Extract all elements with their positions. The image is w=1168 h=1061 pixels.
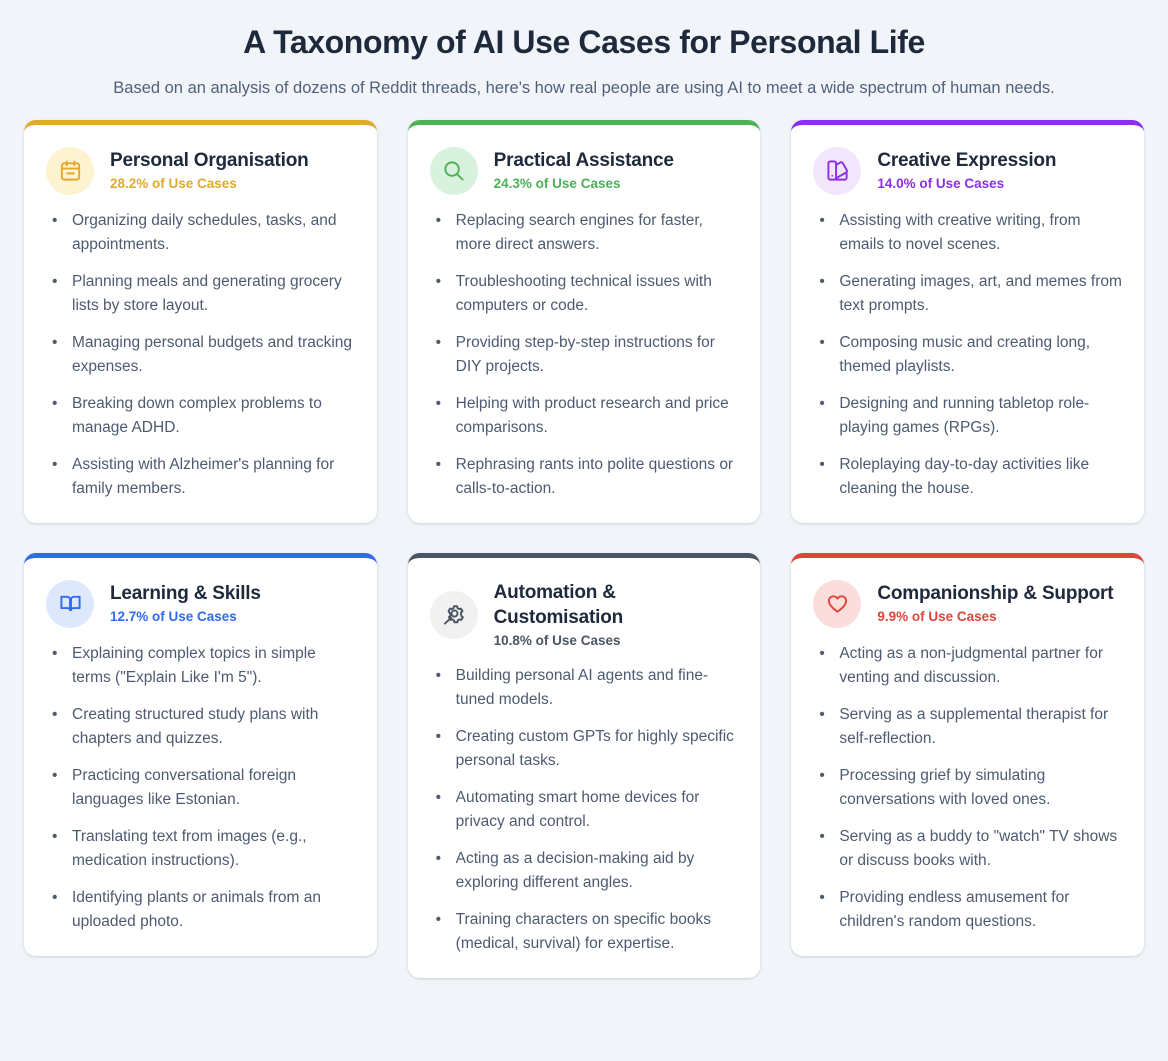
card-percentage: 12.7% of Use Cases: [110, 609, 261, 626]
card-title: Automation & Customisation: [494, 580, 739, 630]
bullet-dot: •: [52, 703, 57, 727]
page-title: A Taxonomy of AI Use Cases for Personal …: [24, 22, 1144, 62]
list-item-label: Acting as a decision-making aid by explo…: [456, 850, 695, 891]
list-item: •Breaking down complex problems to manag…: [46, 392, 355, 440]
card-header-text: Creative Expression14.0% of Use Cases: [877, 148, 1056, 193]
card-header: Creative Expression14.0% of Use Cases: [813, 147, 1122, 195]
category-card: Practical Assistance24.3% of Use Cases•R…: [408, 120, 761, 523]
list-item-label: Managing personal budgets and tracking e…: [72, 334, 352, 375]
heart-icon: [813, 580, 861, 628]
list-item-label: Training characters on specific books (m…: [456, 911, 711, 952]
list-item-label: Planning meals and generating grocery li…: [72, 273, 342, 314]
list-item-label: Providing endless amusement for children…: [839, 889, 1069, 930]
list-item: •Practicing conversational foreign langu…: [46, 764, 355, 812]
list-item: •Explaining complex topics in simple ter…: [46, 642, 355, 690]
list-item: •Building personal AI agents and fine-tu…: [430, 664, 739, 712]
list-item: •Creating structured study plans with ch…: [46, 703, 355, 751]
bullet-dot: •: [819, 270, 824, 294]
card-title: Practical Assistance: [494, 148, 674, 173]
card-header: Automation & Customisation10.8% of Use C…: [430, 580, 739, 650]
list-item-label: Providing step-by-step instructions for …: [456, 334, 715, 375]
list-item-label: Acting as a non-judgmental partner for v…: [839, 645, 1103, 686]
use-case-list: •Building personal AI agents and fine-tu…: [430, 664, 739, 956]
page-root: A Taxonomy of AI Use Cases for Personal …: [0, 0, 1168, 1061]
list-item: •Acting as a non-judgmental partner for …: [813, 642, 1122, 690]
card-header-text: Practical Assistance24.3% of Use Cases: [494, 148, 674, 193]
book-icon: [46, 580, 94, 628]
list-item: •Automating smart home devices for priva…: [430, 786, 739, 834]
bullet-dot: •: [52, 331, 57, 355]
card-percentage: 10.8% of Use Cases: [494, 633, 739, 650]
list-item-label: Breaking down complex problems to manage…: [72, 395, 322, 436]
bullet-dot: •: [819, 331, 824, 355]
list-item: •Assisting with Alzheimer's planning for…: [46, 453, 355, 501]
bullet-dot: •: [436, 664, 441, 688]
list-item: •Assisting with creative writing, from e…: [813, 209, 1122, 257]
page-header: A Taxonomy of AI Use Cases for Personal …: [24, 18, 1144, 120]
bullet-dot: •: [436, 209, 441, 233]
list-item-label: Explaining complex topics in simple term…: [72, 645, 316, 686]
list-item-label: Serving as a buddy to "watch" TV shows o…: [839, 828, 1117, 869]
bullet-dot: •: [52, 209, 57, 233]
bullet-dot: •: [819, 886, 824, 910]
calendar-icon: [46, 147, 94, 195]
bullet-dot: •: [52, 392, 57, 416]
card-header: Learning & Skills12.7% of Use Cases: [46, 580, 355, 628]
category-card: Automation & Customisation10.8% of Use C…: [408, 553, 761, 978]
list-item: •Identifying plants or animals from an u…: [46, 886, 355, 934]
card-percentage: 9.9% of Use Cases: [877, 609, 1113, 626]
list-item-label: Practicing conversational foreign langua…: [72, 767, 296, 808]
search-icon: [430, 147, 478, 195]
bullet-dot: •: [52, 270, 57, 294]
list-item-label: Creating custom GPTs for highly specific…: [456, 728, 734, 769]
card-title: Creative Expression: [877, 148, 1056, 173]
list-item-label: Replacing search engines for faster, mor…: [456, 212, 703, 253]
bullet-dot: •: [436, 908, 441, 932]
list-item-label: Assisting with Alzheimer's planning for …: [72, 456, 334, 497]
list-item: •Serving as a supplemental therapist for…: [813, 703, 1122, 751]
bullet-dot: •: [819, 825, 824, 849]
bullet-dot: •: [52, 453, 57, 477]
bullet-dot: •: [436, 453, 441, 477]
list-item: •Creating custom GPTs for highly specifi…: [430, 725, 739, 773]
use-case-list: •Acting as a non-judgmental partner for …: [813, 642, 1122, 934]
list-item-label: Creating structured study plans with cha…: [72, 706, 318, 747]
card-title: Learning & Skills: [110, 581, 261, 606]
list-item-label: Composing music and creating long, theme…: [839, 334, 1090, 375]
list-item: •Translating text from images (e.g., med…: [46, 825, 355, 873]
bullet-dot: •: [819, 209, 824, 233]
card-header-text: Personal Organisation28.2% of Use Cases: [110, 148, 309, 193]
list-item: •Designing and running tabletop role-pla…: [813, 392, 1122, 440]
card-header: Practical Assistance24.3% of Use Cases: [430, 147, 739, 195]
list-item: •Generating images, art, and memes from …: [813, 270, 1122, 318]
list-item-label: Designing and running tabletop role-play…: [839, 395, 1089, 436]
use-case-list: •Assisting with creative writing, from e…: [813, 209, 1122, 501]
list-item: •Serving as a buddy to "watch" TV shows …: [813, 825, 1122, 873]
taxonomy-card-grid: Personal Organisation28.2% of Use Cases•…: [24, 120, 1144, 978]
bullet-dot: •: [436, 847, 441, 871]
list-item: •Managing personal budgets and tracking …: [46, 331, 355, 379]
bullet-dot: •: [52, 642, 57, 666]
bullet-dot: •: [436, 786, 441, 810]
list-item: •Planning meals and generating grocery l…: [46, 270, 355, 318]
use-case-list: •Replacing search engines for faster, mo…: [430, 209, 739, 501]
category-card: Creative Expression14.0% of Use Cases•As…: [791, 120, 1144, 523]
bullet-dot: •: [52, 886, 57, 910]
use-case-list: •Explaining complex topics in simple ter…: [46, 642, 355, 934]
card-title: Companionship & Support: [877, 581, 1113, 606]
list-item-label: Roleplaying day-to-day activities like c…: [839, 456, 1089, 497]
card-title: Personal Organisation: [110, 148, 309, 173]
card-header-text: Learning & Skills12.7% of Use Cases: [110, 581, 261, 626]
list-item: •Helping with product research and price…: [430, 392, 739, 440]
bullet-dot: •: [52, 825, 57, 849]
card-header-text: Automation & Customisation10.8% of Use C…: [494, 580, 739, 650]
category-card: Companionship & Support9.9% of Use Cases…: [791, 553, 1144, 956]
list-item-label: Serving as a supplemental therapist for …: [839, 706, 1108, 747]
card-header: Companionship & Support9.9% of Use Cases: [813, 580, 1122, 628]
list-item: •Troubleshooting technical issues with c…: [430, 270, 739, 318]
list-item-label: Rephrasing rants into polite questions o…: [456, 456, 733, 497]
card-percentage: 24.3% of Use Cases: [494, 176, 674, 193]
use-case-list: •Organizing daily schedules, tasks, and …: [46, 209, 355, 501]
category-card: Personal Organisation28.2% of Use Cases•…: [24, 120, 377, 523]
list-item: •Providing endless amusement for childre…: [813, 886, 1122, 934]
list-item-label: Organizing daily schedules, tasks, and a…: [72, 212, 337, 253]
bullet-dot: •: [819, 392, 824, 416]
list-item-label: Helping with product research and price …: [456, 395, 729, 436]
bullet-dot: •: [52, 764, 57, 788]
list-item: •Acting as a decision-making aid by expl…: [430, 847, 739, 895]
list-item-label: Building personal AI agents and fine-tun…: [456, 667, 708, 708]
list-item: •Providing step-by-step instructions for…: [430, 331, 739, 379]
list-item-label: Identifying plants or animals from an up…: [72, 889, 321, 930]
card-percentage: 28.2% of Use Cases: [110, 176, 309, 193]
list-item-label: Processing grief by simulating conversat…: [839, 767, 1050, 808]
palette-icon: [813, 147, 861, 195]
card-header-text: Companionship & Support9.9% of Use Cases: [877, 581, 1113, 626]
list-item: •Rephrasing rants into polite questions …: [430, 453, 739, 501]
bullet-dot: •: [819, 703, 824, 727]
bullet-dot: •: [436, 331, 441, 355]
category-card: Learning & Skills12.7% of Use Cases•Expl…: [24, 553, 377, 956]
list-item: •Processing grief by simulating conversa…: [813, 764, 1122, 812]
list-item-label: Automating smart home devices for privac…: [456, 789, 700, 830]
list-item-label: Generating images, art, and memes from t…: [839, 273, 1122, 314]
bullet-dot: •: [436, 270, 441, 294]
list-item: •Organizing daily schedules, tasks, and …: [46, 209, 355, 257]
bullet-dot: •: [819, 764, 824, 788]
card-percentage: 14.0% of Use Cases: [877, 176, 1056, 193]
list-item: •Roleplaying day-to-day activities like …: [813, 453, 1122, 501]
bullet-dot: •: [436, 725, 441, 749]
list-item: •Replacing search engines for faster, mo…: [430, 209, 739, 257]
page-subtitle: Based on an analysis of dozens of Reddit…: [89, 76, 1079, 102]
bullet-dot: •: [819, 453, 824, 477]
bullet-dot: •: [436, 392, 441, 416]
list-item: •Composing music and creating long, them…: [813, 331, 1122, 379]
card-header: Personal Organisation28.2% of Use Cases: [46, 147, 355, 195]
list-item: •Training characters on specific books (…: [430, 908, 739, 956]
bullet-dot: •: [819, 642, 824, 666]
list-item-label: Translating text from images (e.g., medi…: [72, 828, 307, 869]
list-item-label: Assisting with creative writing, from em…: [839, 212, 1080, 253]
gear-icon: [430, 591, 478, 639]
list-item-label: Troubleshooting technical issues with co…: [456, 273, 712, 314]
